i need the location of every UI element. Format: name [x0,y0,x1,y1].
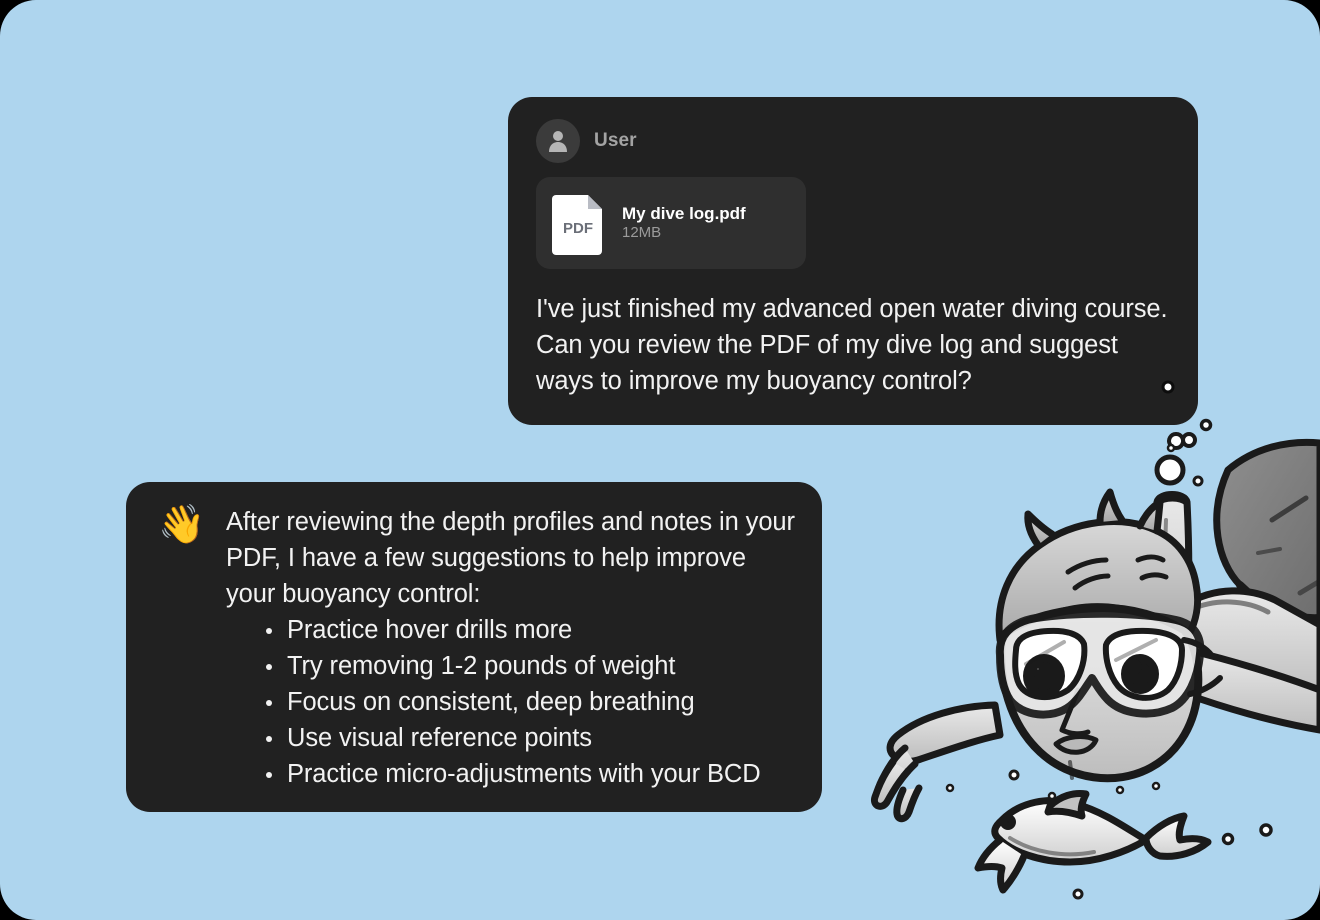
sender-label: User [594,130,637,152]
snorkeler-face [1001,608,1198,778]
assistant-intro-text: After reviewing the depth profiles and n… [226,504,796,612]
user-message-text: I've just finished my advanced open wate… [536,291,1170,399]
user-message-bubble: User PDF My dive log.pdf 12MB I've just … [508,97,1198,425]
air-bubbles [947,382,1271,898]
page-root: User PDF My dive log.pdf 12MB I've just … [0,0,1320,920]
list-item: Use visual reference points [261,720,796,756]
fish [978,794,1208,891]
snorkel-tube [1155,495,1189,690]
snorkeler-torso [1179,591,1320,700]
list-item: Practice hover drills more [261,612,796,648]
waving-hand-emoji: 👋 [158,504,226,546]
list-item: Focus on consistent, deep breathing [261,684,796,720]
attachment-file-size: 12MB [622,224,661,241]
snorkeler-left-arm [874,705,1000,819]
pdf-icon-label: PDF [563,220,593,237]
snorkeler-right-arm [1173,650,1320,730]
person-icon [536,119,580,163]
pdf-file-icon: PDF [552,191,606,255]
wetsuit-sleeve [1217,442,1320,618]
list-item: Practice micro-adjustments with your BCD [261,756,796,792]
assistant-message-bubble: 👋 After reviewing the depth profiles and… [126,482,822,812]
user-message-header: User [536,119,1170,163]
assistant-suggestion-list: Practice hover drills more Try removing … [158,612,796,792]
attachment-file-name: My dive log.pdf [622,204,746,223]
list-item: Try removing 1-2 pounds of weight [261,648,796,684]
attachment-card[interactable]: PDF My dive log.pdf 12MB [536,177,806,269]
dive-mask [1000,614,1220,715]
snorkeler-hair [999,492,1198,642]
